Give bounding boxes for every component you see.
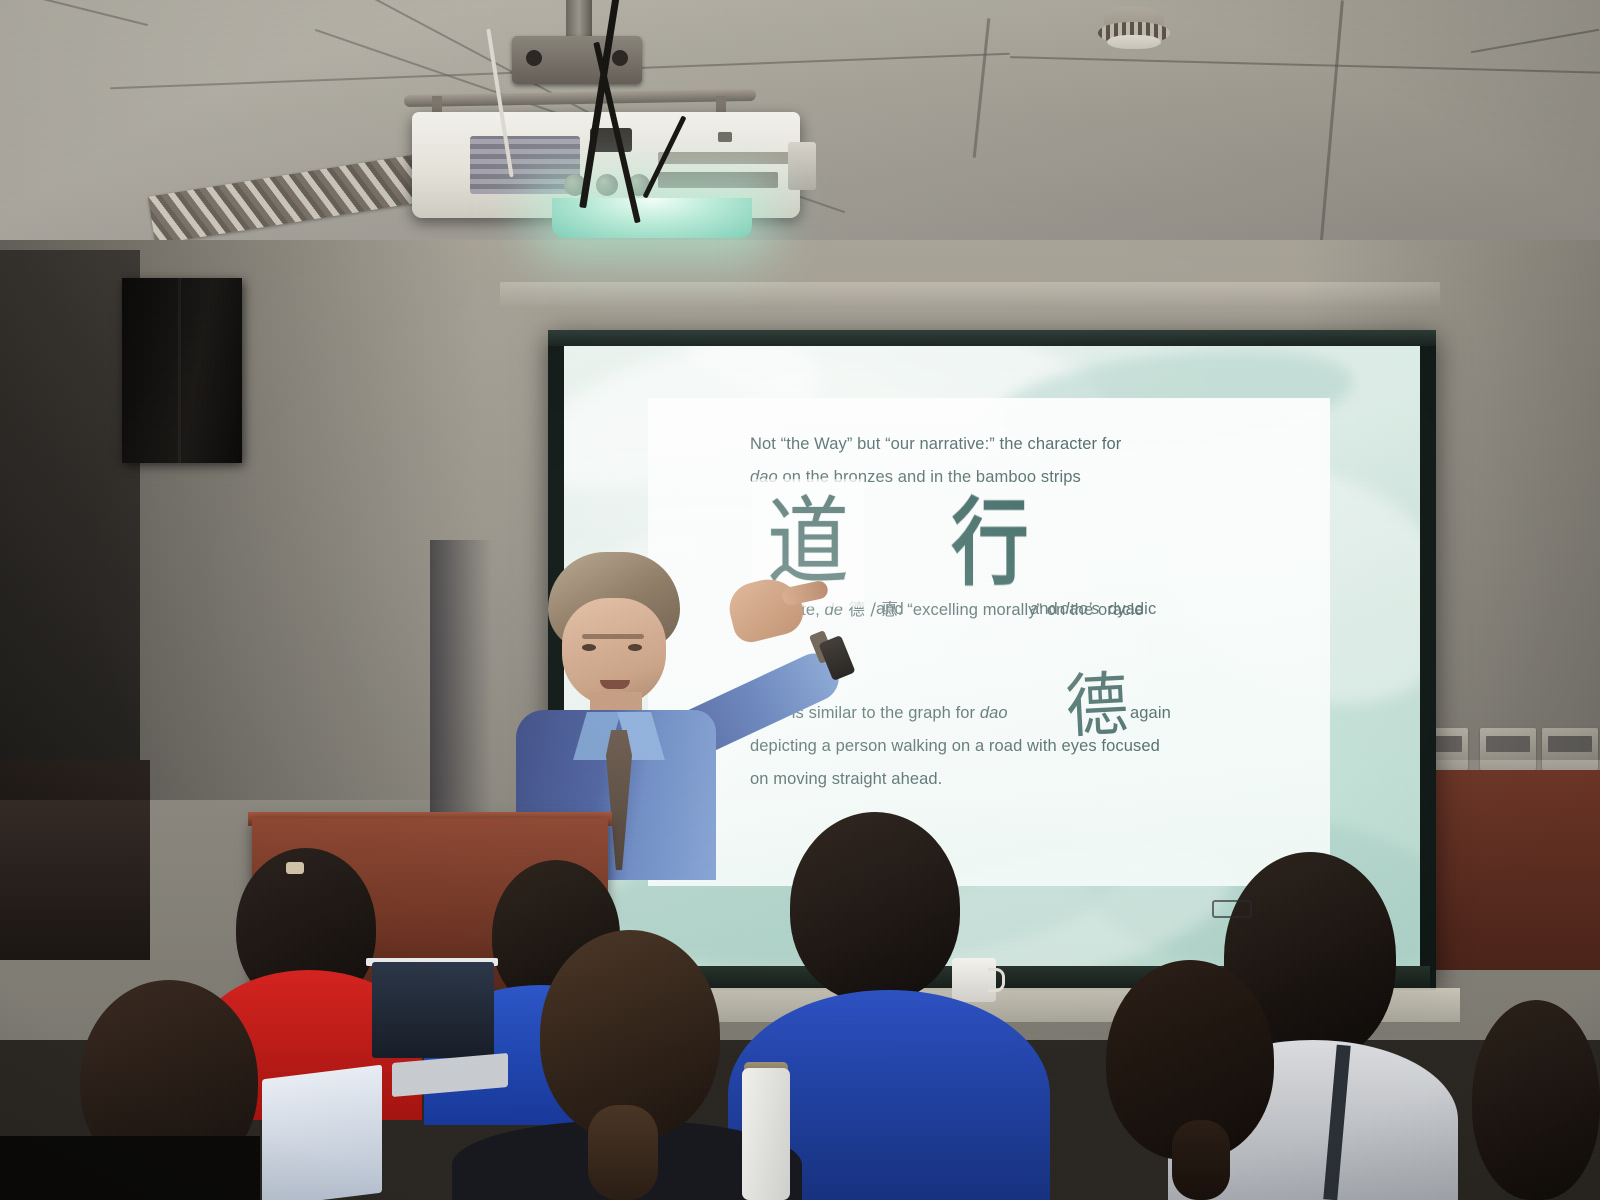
ponytail — [588, 1105, 658, 1200]
ponytail — [1172, 1120, 1230, 1200]
water-bottle[interactable] — [742, 1068, 790, 1200]
ceiling-projector[interactable] — [412, 112, 800, 218]
projector-led-icon — [718, 132, 732, 142]
smoke-detector-icon — [1098, 6, 1170, 50]
hair-clip-icon — [286, 862, 304, 874]
slide-line-4-tail: : “excelling morally” on the oracle — [898, 601, 1144, 619]
ceiling-vent-icon — [148, 154, 427, 244]
eyeglasses-icon — [1212, 900, 1252, 918]
audience-member-head — [790, 812, 960, 1002]
wall-trim — [500, 282, 1440, 306]
slide-and-1: and — [876, 593, 904, 626]
audience-member-far-right — [1472, 1000, 1600, 1200]
ceiling — [0, 0, 1600, 265]
presenter-eye — [628, 644, 642, 651]
slide-daos: dao’s — [1060, 593, 1100, 626]
presenter-face — [562, 598, 666, 706]
ceiling-tile-line — [2, 0, 148, 26]
laptop-screen[interactable] — [372, 962, 494, 1058]
slide-dyadic: dyadic — [1108, 593, 1156, 626]
ceiling-tile-line — [1010, 56, 1600, 74]
presenter-pointing-finger — [781, 579, 830, 606]
slide-line-5-dao: dao — [980, 704, 1008, 722]
projector-side-panel — [788, 142, 816, 190]
presenter-hand — [724, 572, 808, 646]
wall-shadow-left — [0, 240, 480, 800]
projector-port-strip — [658, 152, 798, 164]
projector-mount-plate — [512, 36, 642, 84]
presenter-mouth — [600, 680, 630, 689]
ceiling-tile-line — [973, 18, 991, 158]
oracle-bone-de-glyph: 德 — [1041, 652, 1152, 760]
ceiling-tile-line — [1471, 29, 1599, 54]
ceiling-tile-line — [1319, 0, 1344, 249]
bamboo-strip-dao-glyph: 行 — [936, 485, 1044, 604]
presenter-eye — [582, 644, 596, 651]
desk-front — [0, 1136, 260, 1200]
projection-screen-top-bar — [548, 330, 1436, 346]
lecture-hall-photo: Not “the Way” but “our narrative:” the c… — [0, 0, 1600, 1200]
projector-port-strip — [658, 172, 778, 188]
slide-line-1: Not “the Way” but “our narrative:” the c… — [750, 428, 1210, 461]
laptop-screen[interactable] — [262, 1065, 382, 1200]
coffee-mug[interactable] — [952, 958, 996, 1002]
projector-knob[interactable] — [596, 174, 618, 196]
presenter-brow — [582, 634, 644, 639]
